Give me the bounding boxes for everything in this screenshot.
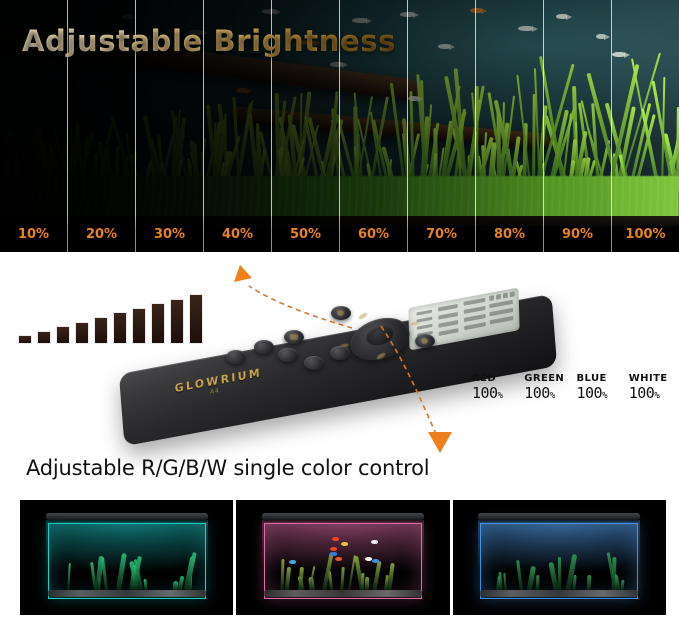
brightness-label-20: 20%: [68, 216, 136, 252]
segment-dim-overlay: [408, 0, 475, 252]
channel-label: BLUE: [577, 373, 620, 384]
moon-icon: [421, 338, 428, 344]
channel-value: 100%: [629, 384, 672, 402]
brightness-label-50: 50%: [272, 216, 340, 252]
tank-plant: [614, 574, 617, 590]
channel-label: RED: [472, 373, 515, 384]
color-channel-white: WHITE100%: [629, 373, 672, 402]
mode-icon: [290, 334, 298, 340]
color-white-button[interactable]: [330, 346, 350, 360]
brightness-label-70: 70%: [408, 216, 476, 252]
tank-plant: [173, 581, 179, 590]
brightness-bar-40: [75, 322, 89, 344]
brightness-label-30: 30%: [136, 216, 204, 252]
brightness-label-40: 40%: [204, 216, 272, 252]
tank-gravel: [480, 590, 638, 597]
led-light-bar: [46, 513, 208, 520]
brightness-bar-30: [56, 326, 70, 344]
timer-button[interactable]: [226, 350, 246, 364]
brightness-percentage-labels: 10%20%30%40%50%60%70%80%90%100%: [0, 216, 679, 252]
channel-label: WHITE: [629, 373, 672, 384]
brightness-segment-80: [476, 0, 544, 252]
color-channel-readout: RED100%GREEN100%BLUE100%WHITE100%: [472, 373, 672, 402]
dial-up-indicator: [358, 312, 369, 321]
segment-dim-overlay: [544, 0, 611, 252]
brightness-label-80: 80%: [476, 216, 544, 252]
tank-fish: [335, 557, 342, 561]
channel-label: GREEN: [524, 373, 567, 384]
tank-pink: [236, 500, 449, 615]
color-green-button[interactable]: [278, 348, 298, 362]
page-title: Adjustable Brightness: [22, 24, 396, 58]
color-channel-blue: BLUE100%: [577, 373, 620, 402]
tank-gravel: [264, 590, 422, 597]
brightness-label-90: 90%: [544, 216, 612, 252]
subheading: Adjustable R/G/B/W single color control: [26, 456, 429, 480]
brightness-bar-50: [94, 317, 108, 344]
tank-blue: [453, 500, 666, 615]
channel-value: 100%: [577, 384, 620, 402]
power-icon: [337, 310, 344, 316]
brightness-label-10: 10%: [0, 216, 68, 252]
color-mode-gallery: [20, 500, 666, 615]
brightness-label-100: 100%: [612, 216, 679, 252]
color-blue-button[interactable]: [304, 356, 324, 370]
tank-fish: [332, 537, 339, 541]
brightness-bar-20: [37, 331, 51, 344]
brightness-segment-100: [612, 0, 679, 252]
channel-value: 100%: [472, 384, 515, 402]
tank-cyan: [20, 500, 233, 615]
brightness-label-60: 60%: [340, 216, 408, 252]
tank-fish: [330, 547, 337, 551]
color-channel-red: RED100%: [472, 373, 515, 402]
tank-fish: [341, 542, 348, 546]
brightness-bar-10: [18, 335, 32, 344]
led-light-bar: [478, 513, 640, 520]
channel-value: 100%: [524, 384, 567, 402]
led-light-bar: [262, 513, 424, 520]
segment-dim-overlay: [476, 0, 543, 252]
product-infographic: Adjustable Brightness 10%20%30%40%50%60%…: [0, 0, 679, 623]
brightness-banner: Adjustable Brightness 10%20%30%40%50%60%…: [0, 0, 679, 252]
brightness-segment-70: [408, 0, 476, 252]
tank-fish: [372, 559, 379, 563]
color-red-button[interactable]: [254, 340, 274, 354]
color-channel-green: GREEN100%: [524, 373, 567, 402]
tank-gravel: [48, 590, 206, 597]
remote-control[interactable]: GLOWRIUM A4: [118, 292, 570, 422]
light-beam: [46, 520, 208, 594]
brightness-segment-90: [544, 0, 612, 252]
tank-fish: [371, 540, 378, 544]
